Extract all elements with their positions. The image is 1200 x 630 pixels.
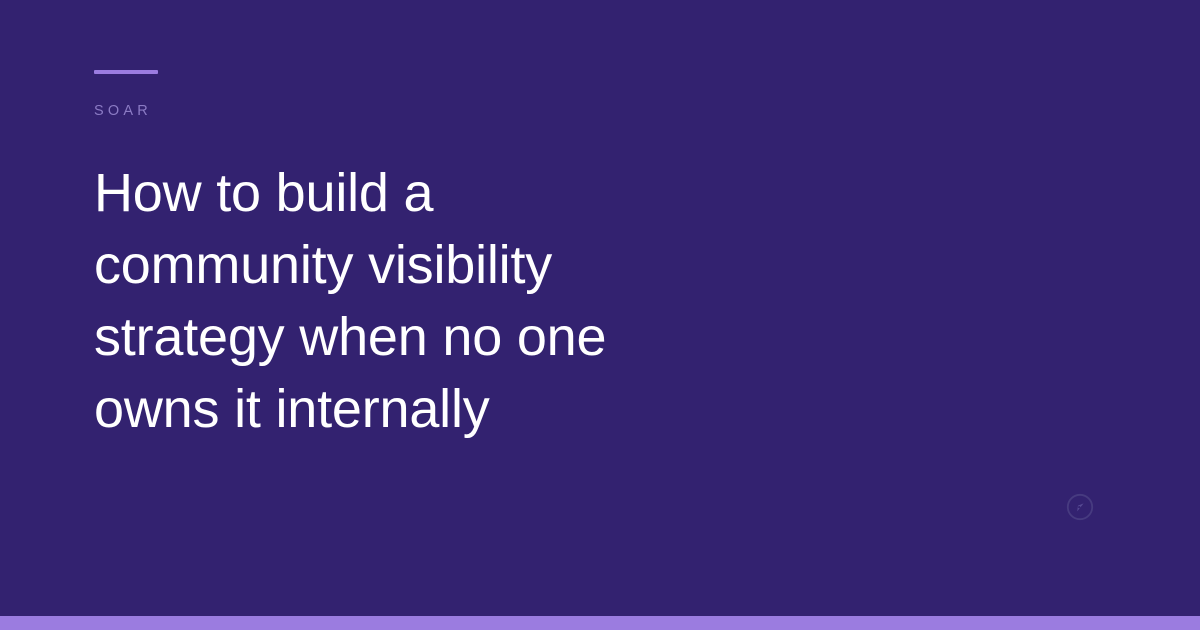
page-title: How to build a community visibility stra… — [94, 157, 694, 445]
accent-rule-divider — [94, 70, 158, 74]
brand-eyebrow-label: SOAR — [94, 104, 734, 119]
footer-accent-bar — [0, 616, 1200, 630]
card-content: SOAR How to build a community visibility… — [94, 70, 734, 445]
social-share-card: SOAR How to build a community visibility… — [0, 0, 1200, 630]
compass-logo-icon — [1066, 493, 1094, 521]
